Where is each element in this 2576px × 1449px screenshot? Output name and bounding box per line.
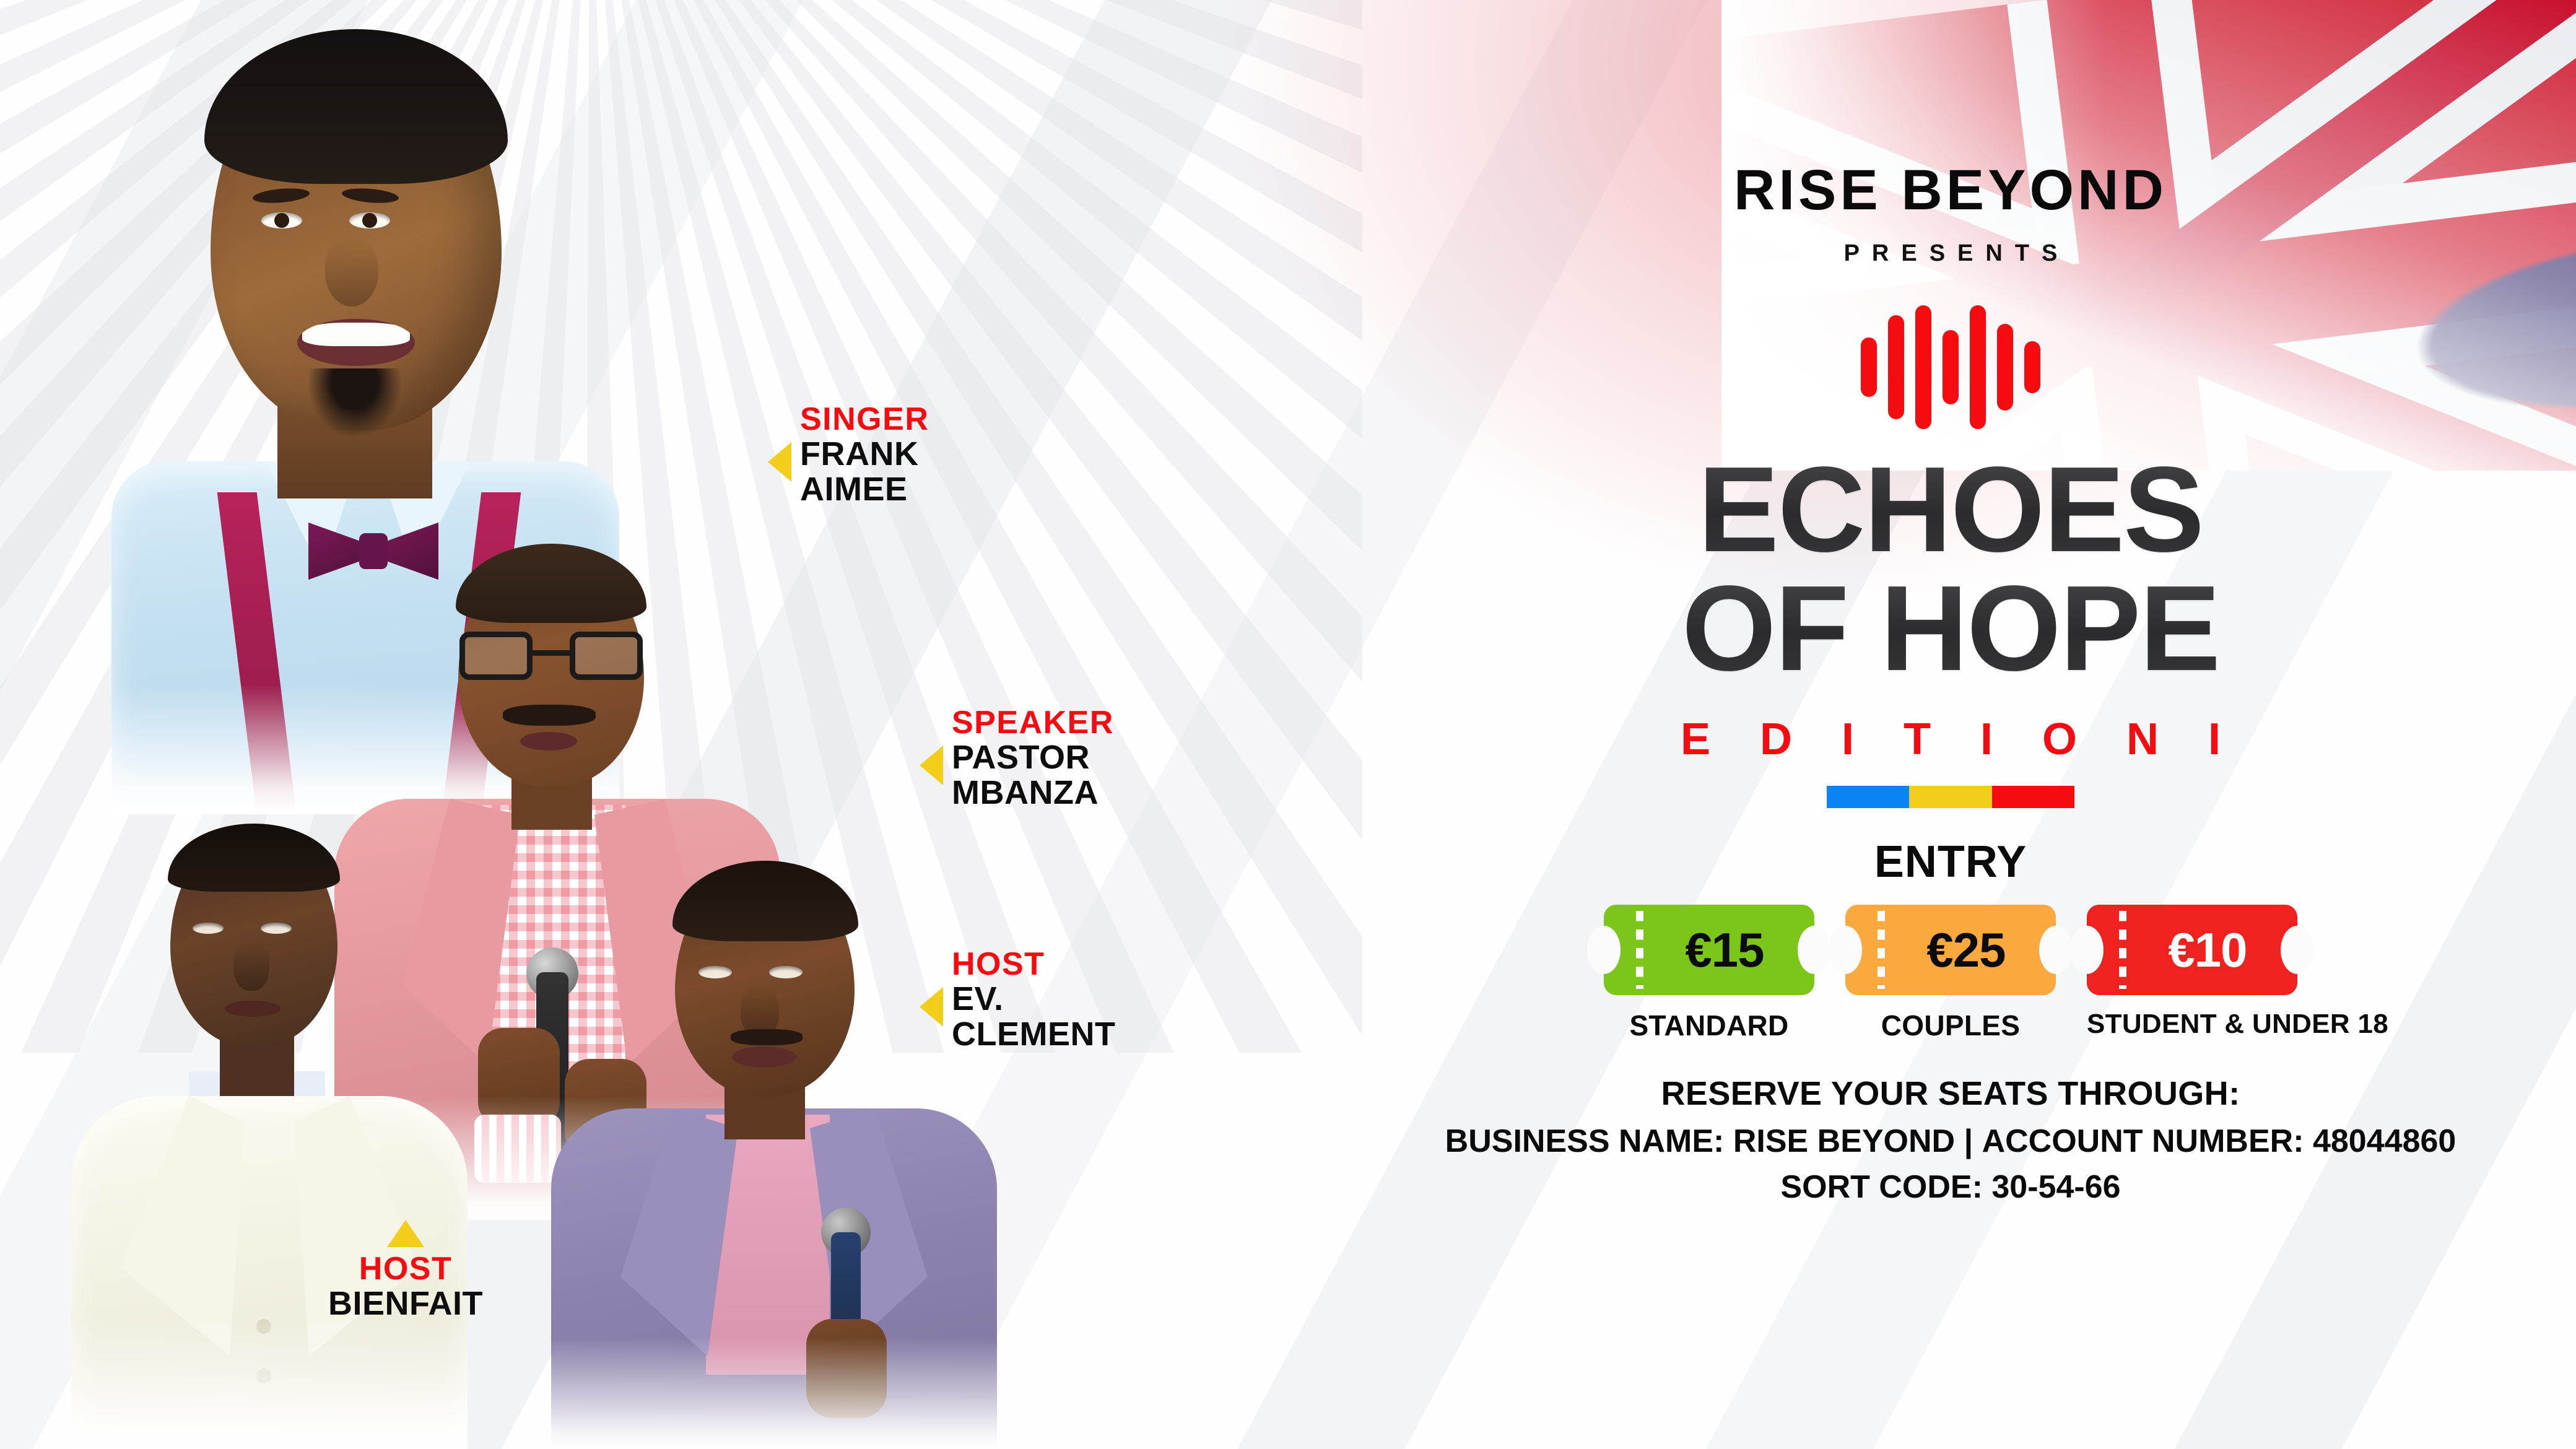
flag-bar-yellow	[1909, 786, 1991, 808]
ticket-standard[interactable]: €15 STANDARD	[1604, 905, 1814, 1042]
credit-name-line2: MBANZA	[952, 775, 1114, 811]
poster-right-column: RISE BEYOND PRESENTS ECHOES OF HOPE E D …	[1325, 0, 2576, 1449]
business-name-value: RISE BEYOND	[1724, 1123, 1964, 1159]
ticket-stub-student: €10	[2087, 905, 2297, 995]
triangle-left-icon	[768, 442, 791, 482]
account-number-label: ACCOUNT NUMBER:	[1982, 1123, 2304, 1159]
ticket-list: €15 STANDARD €25 COUPLES €10 STUDENT & U…	[1325, 905, 2576, 1042]
brand-name: RISE BEYOND	[1325, 158, 2576, 223]
sort-code-label: SORT CODE:	[1780, 1169, 1982, 1205]
ticket-price: €10	[2137, 922, 2247, 978]
ticket-price: €25	[1895, 922, 2005, 978]
credit-bienfait: HOST BIENFAIT	[328, 1220, 483, 1321]
credit-ev-clement: HOST EV. CLEMENT	[920, 947, 1115, 1053]
triangle-up-icon	[387, 1220, 424, 1247]
account-number-value: 48044860	[2304, 1123, 2456, 1159]
credit-name-line2: CLEMENT	[952, 1017, 1115, 1052]
ticket-couples[interactable]: €25 COUPLES	[1845, 905, 2056, 1042]
credit-pastor-mbanza: SPEAKER PASTOR MBANZA	[920, 706, 1114, 811]
edition-label: E D I T I O N I	[1325, 714, 2576, 765]
reservation-details: RESERVE YOUR SEATS THROUGH: BUSINESS NAM…	[1325, 1074, 2576, 1206]
ticket-perforation	[1636, 911, 1643, 989]
ticket-stub-standard: €15	[1604, 905, 1814, 995]
ticket-price: €15	[1654, 922, 1764, 978]
flag-color-bar	[1827, 786, 2074, 808]
flag-bar-red	[1992, 786, 2074, 808]
credit-name-line1: FRANK	[800, 437, 929, 472]
credit-frank-aimee: SINGER FRANK AIMEE	[768, 402, 929, 508]
flag-bar-blue	[1827, 786, 1909, 808]
triangle-left-icon	[920, 987, 943, 1027]
sort-code-line: SORT CODE: 30-54-66	[1325, 1168, 2576, 1206]
credit-role: HOST	[952, 947, 1115, 981]
credit-name-line1: PASTOR	[952, 740, 1114, 775]
credit-role: SINGER	[800, 402, 929, 437]
brand-presents: PRESENTS	[1325, 240, 2576, 267]
sort-code-value: 30-54-66	[1983, 1169, 2121, 1205]
brand-block: RISE BEYOND PRESENTS	[1325, 0, 2576, 267]
title-line-2: OF HOPE	[1325, 569, 2576, 688]
ticket-perforation	[2119, 911, 2126, 989]
audio-waveform-icon	[1858, 305, 2043, 429]
entry-heading: ENTRY	[1325, 837, 2576, 887]
event-poster: SINGER FRANK AIMEE SPEAKER PASTOR MBANZA…	[0, 0, 2576, 1449]
ticket-category: STUDENT & UNDER 18	[2087, 1009, 2297, 1040]
credit-name-line1: EV.	[952, 981, 1115, 1017]
field-separator: |	[1964, 1123, 1982, 1159]
triangle-left-icon	[920, 746, 943, 785]
ticket-student[interactable]: €10 STUDENT & UNDER 18	[2087, 905, 2297, 1040]
credit-name-line1: BIENFAIT	[328, 1286, 483, 1321]
speaker-photos	[0, 0, 1053, 1449]
credit-role: HOST	[328, 1252, 483, 1286]
business-name-label: BUSINESS NAME:	[1445, 1123, 1725, 1159]
ticket-stub-couples: €25	[1845, 905, 2056, 995]
title-block: ECHOES OF HOPE E D I T I O N I	[1325, 450, 2576, 808]
ticket-perforation	[1878, 911, 1885, 989]
ticket-category: COUPLES	[1845, 1009, 2056, 1042]
photo-bienfait	[71, 824, 468, 1449]
bank-details-line: BUSINESS NAME: RISE BEYOND | ACCOUNT NUM…	[1325, 1123, 2576, 1160]
title-line-1: ECHOES	[1325, 450, 2576, 569]
credit-role: SPEAKER	[952, 706, 1114, 740]
credit-name-line2: AIMEE	[800, 472, 929, 507]
ticket-category: STANDARD	[1604, 1009, 1814, 1042]
reserve-heading: RESERVE YOUR SEATS THROUGH:	[1325, 1074, 2576, 1113]
